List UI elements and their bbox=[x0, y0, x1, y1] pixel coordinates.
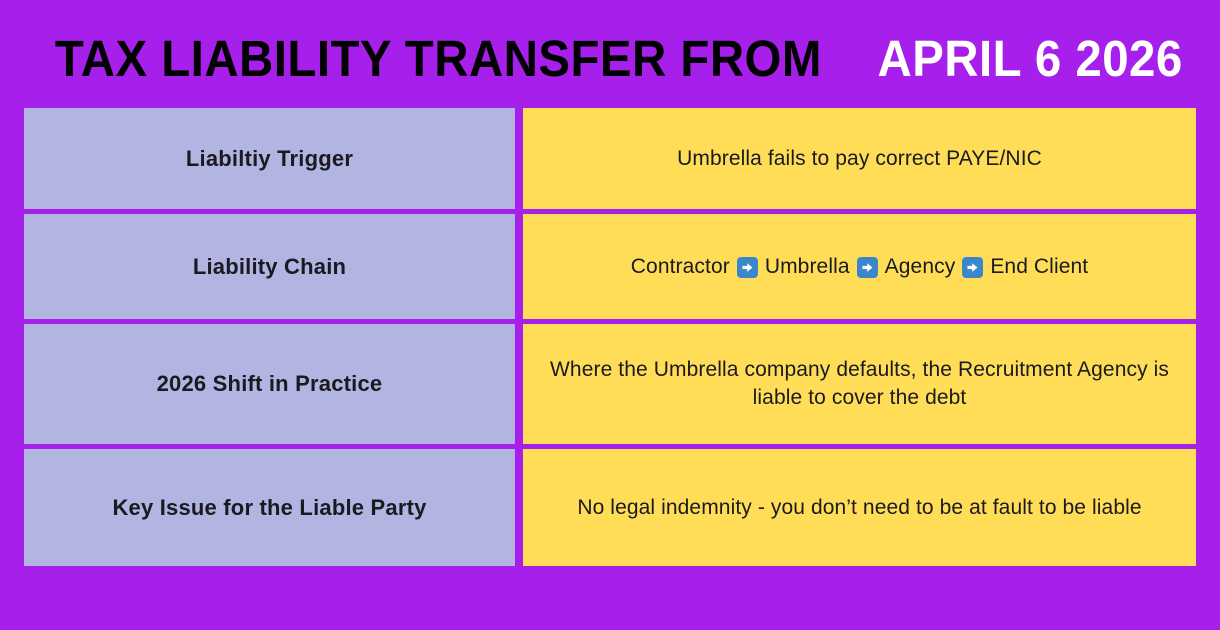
page-title-primary: Tax Liability Transfer from bbox=[55, 33, 822, 84]
row-label-liability-chain: Liability Chain bbox=[24, 214, 515, 319]
liability-chain: Contractor Umbrella Agency bbox=[631, 253, 1088, 281]
table-row: Liabiltiy Trigger Umbrella fails to pay … bbox=[24, 108, 1196, 209]
column-gap bbox=[515, 324, 523, 444]
row-label-key-issue-for-the-liable-party: Key Issue for the Liable Party bbox=[24, 449, 515, 566]
table-row: 2026 Shift in Practice Where the Umbrell… bbox=[24, 324, 1196, 444]
column-gap bbox=[515, 214, 523, 319]
row-value-text: Where the Umbrella company defaults, the… bbox=[537, 356, 1182, 411]
right-arrow-icon bbox=[737, 257, 758, 278]
right-arrow-icon bbox=[962, 257, 983, 278]
comparison-table: Liabiltiy Trigger Umbrella fails to pay … bbox=[24, 108, 1196, 568]
page-title: Tax Liability Transfer from April 6 2026 bbox=[0, 22, 1220, 94]
row-value-text: Umbrella fails to pay correct PAYE/NIC bbox=[677, 145, 1042, 173]
page-title-highlight: April 6 2026 bbox=[877, 33, 1182, 84]
row-value-key-issue-for-the-liable-party: No legal indemnity - you don’t need to b… bbox=[523, 449, 1196, 566]
slide-canvas: Tax Liability Transfer from April 6 2026… bbox=[0, 0, 1220, 630]
table-row: Key Issue for the Liable Party No legal … bbox=[24, 449, 1196, 566]
row-label-2026-shift-in-practice: 2026 Shift in Practice bbox=[24, 324, 515, 444]
row-value-text: No legal indemnity - you don’t need to b… bbox=[577, 494, 1141, 522]
row-value-liability-chain: Contractor Umbrella Agency bbox=[523, 214, 1196, 319]
column-gap bbox=[515, 108, 523, 209]
row-value-liability-trigger: Umbrella fails to pay correct PAYE/NIC bbox=[523, 108, 1196, 209]
chain-node-agency: Agency bbox=[885, 253, 956, 281]
chain-node-umbrella: Umbrella bbox=[765, 253, 850, 281]
table-row: Liability Chain Contractor Umbrella bbox=[24, 214, 1196, 319]
row-value-2026-shift-in-practice: Where the Umbrella company defaults, the… bbox=[523, 324, 1196, 444]
page-title-space bbox=[851, 33, 865, 84]
column-gap bbox=[515, 449, 523, 566]
chain-node-contractor: Contractor bbox=[631, 253, 730, 281]
right-arrow-icon bbox=[857, 257, 878, 278]
chain-node-end-client: End Client bbox=[990, 253, 1088, 281]
row-label-liability-trigger: Liabiltiy Trigger bbox=[24, 108, 515, 209]
